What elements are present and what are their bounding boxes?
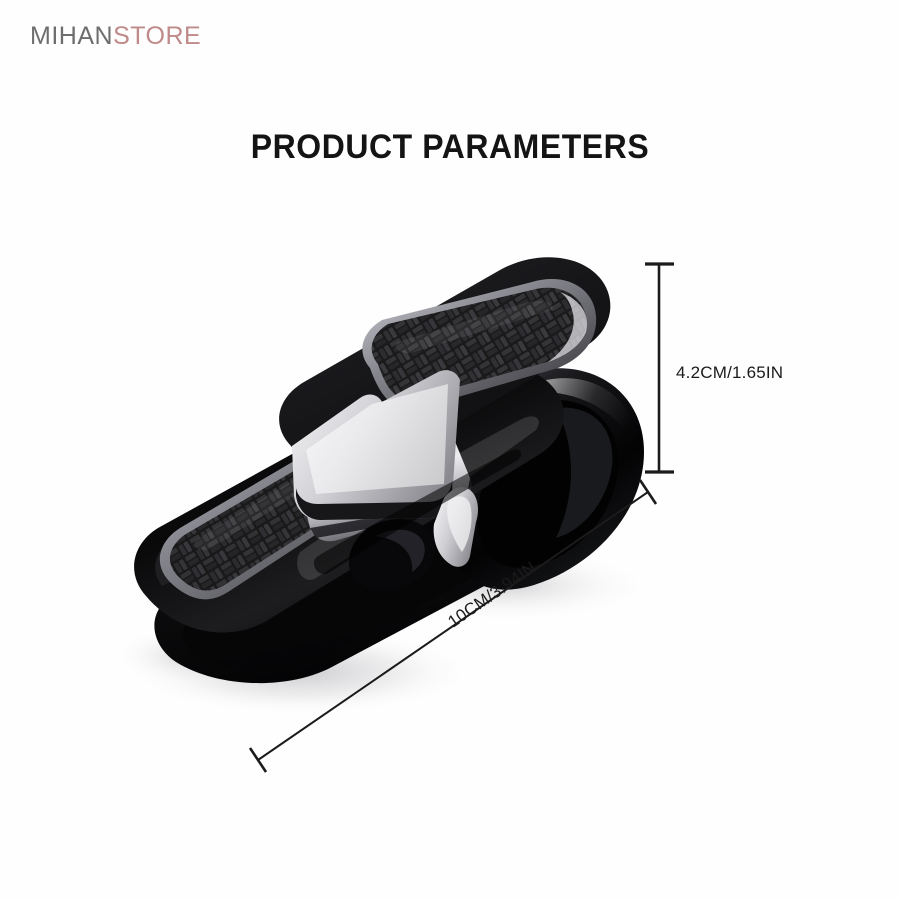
height-dimension-label: 4.2CM/1.65IN xyxy=(676,363,783,383)
release-latch xyxy=(434,487,478,567)
brand-logo-secondary: STORE xyxy=(113,22,201,50)
clip-upper-jaw xyxy=(279,257,610,473)
hinge-wing xyxy=(349,519,436,590)
length-dimension-label: 10CM/3.94IN xyxy=(444,558,540,632)
page-title: PRODUCT PARAMETERS xyxy=(27,128,873,167)
brand-logo-primary: MIHAN xyxy=(30,22,113,50)
chrome-band-upper xyxy=(292,370,460,520)
dimension-lines xyxy=(250,264,674,772)
product-shadow xyxy=(110,547,655,716)
clip-nose xyxy=(448,368,644,589)
upper-grip-pad xyxy=(362,279,596,409)
lower-grip-pad xyxy=(160,393,455,599)
brand-logo: MIHANSTORE xyxy=(30,24,201,49)
product-parameters-page: MIHANSTORE PRODUCT PARAMETERS xyxy=(0,0,900,900)
jaw-gap xyxy=(314,450,521,574)
height-dimension-line xyxy=(645,264,674,472)
chrome-band-lower xyxy=(296,389,471,541)
